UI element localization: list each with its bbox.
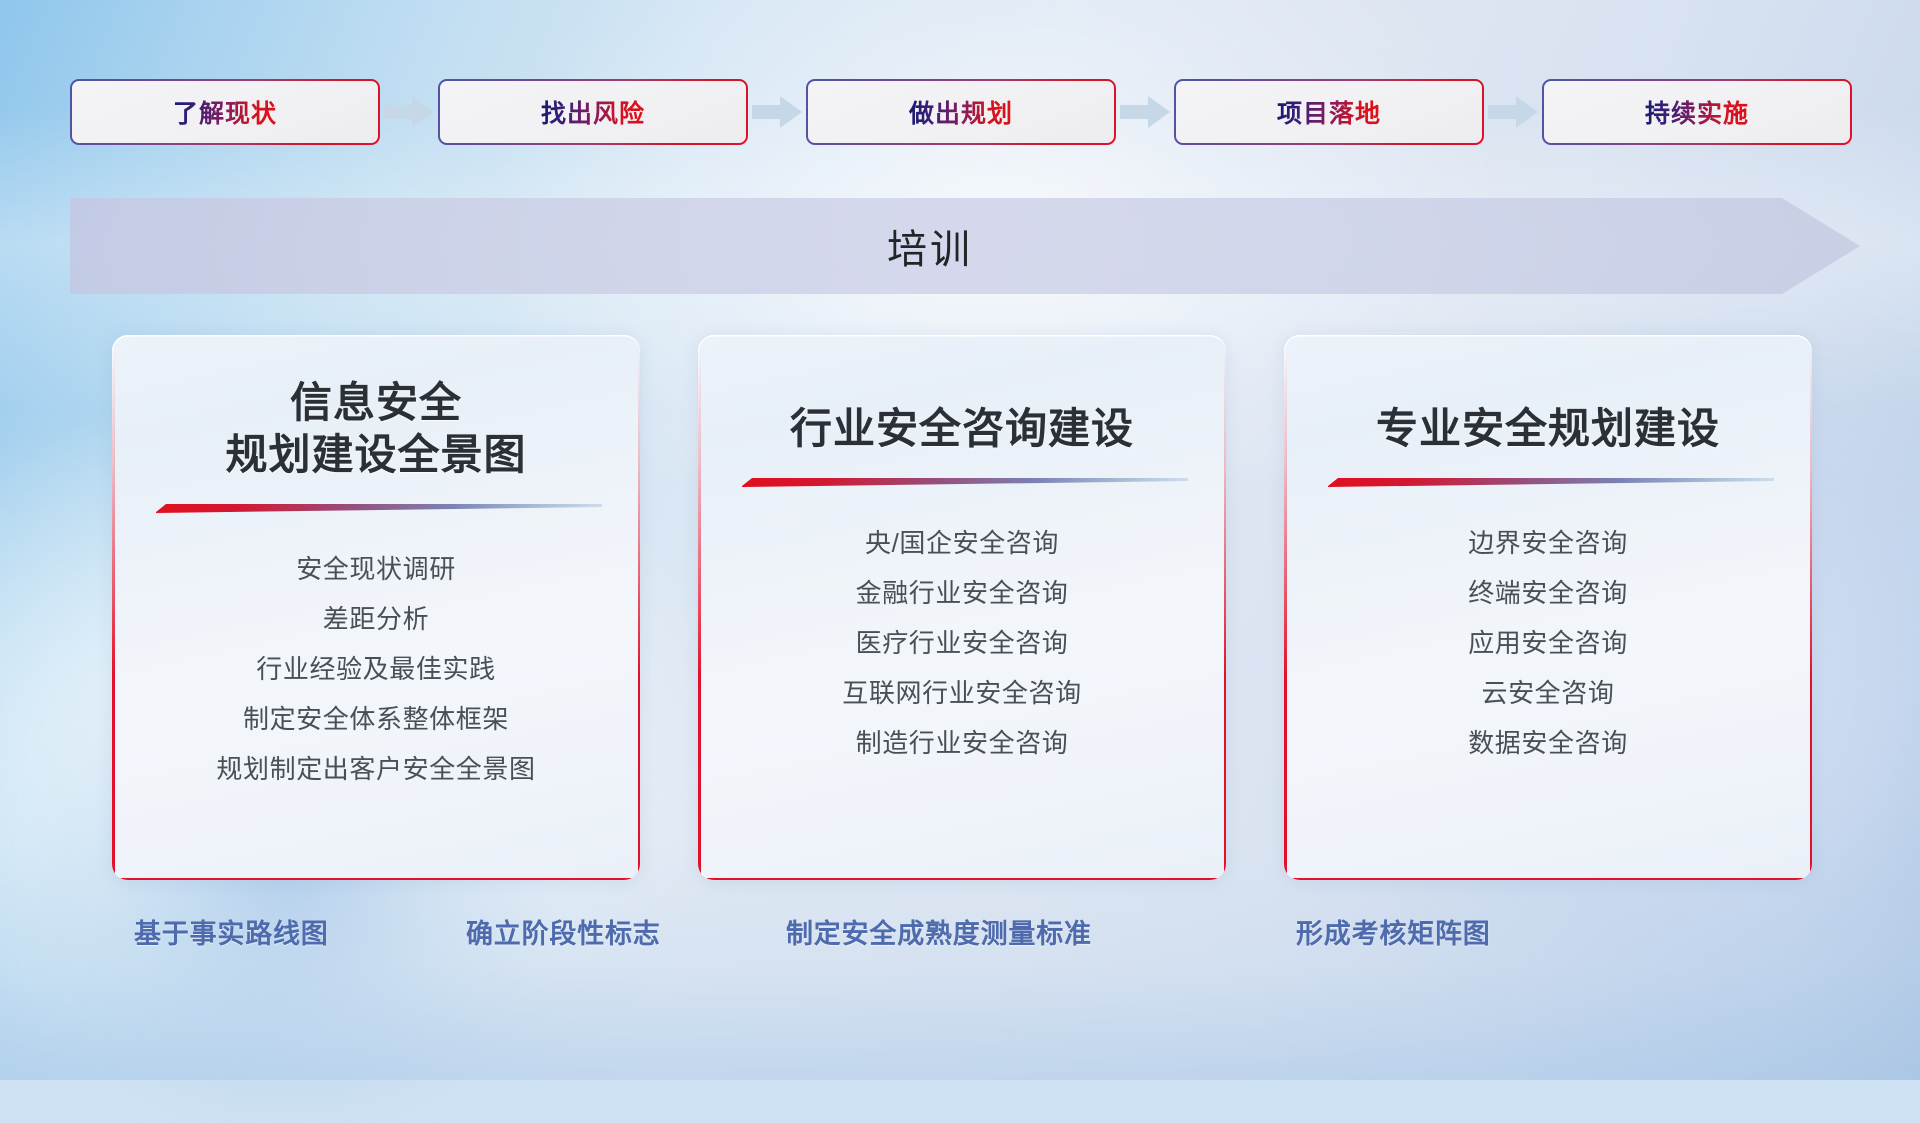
list-item: 互联网行业安全咨询 [842,668,1081,718]
step-arrow-icon-2 [748,95,806,129]
step-box-2-inner: 找出风险 [440,81,746,143]
list-item: 行业经验及最佳实践 [256,644,495,694]
step-box-2[interactable]: 找出风险 [438,79,748,145]
process-step-row: 了解现状 找出风险 做出规划 项目落地 [70,78,1854,146]
service-card-3-list: 边界安全咨询 终端安全咨询 应用安全咨询 云安全咨询 数据安全咨询 [1468,518,1628,768]
list-item: 医疗行业安全咨询 [856,618,1069,668]
service-card-1-list: 安全现状调研 差距分析 行业经验及最佳实践 制定安全体系整体框架 规划制定出客户… [216,544,535,794]
service-card-1[interactable]: 信息安全 规划建设全景图 [112,335,640,880]
bottom-label-2: 确立阶段性标志 [466,912,661,951]
list-item: 差距分析 [323,594,429,644]
step-label-5: 持续实施 [1645,94,1749,130]
list-item: 制造行业安全咨询 [856,718,1069,768]
list-item: 央/国企安全咨询 [865,518,1059,568]
service-card-1-title: 信息安全 规划建设全景图 [225,377,526,481]
step-box-5[interactable]: 持续实施 [1542,79,1852,145]
service-card-3-title: 专业安全规划建设 [1376,377,1720,455]
service-card-2-title: 行业安全咨询建设 [790,377,1134,455]
service-card-2-list: 央/国企安全咨询 金融行业安全咨询 医疗行业安全咨询 互联网行业安全咨询 制造行… [842,518,1081,768]
list-item: 规划制定出客户安全全景图 [216,744,535,794]
service-card-3[interactable]: 专业安全规划建设 [1284,335,1812,880]
step-box-5-inner: 持续实施 [1544,81,1850,143]
step-label-3: 做出规划 [909,94,1013,130]
service-card-1-content: 信息安全 规划建设全景图 [112,335,640,880]
step-box-4-inner: 项目落地 [1176,81,1482,143]
list-item: 数据安全咨询 [1468,718,1628,768]
list-item: 金融行业安全咨询 [856,568,1069,618]
step-box-3-inner: 做出规划 [808,81,1114,143]
service-card-3-content: 专业安全规划建设 [1284,335,1812,880]
service-cards-row: 信息安全 规划建设全景图 [112,335,1812,880]
step-box-4[interactable]: 项目落地 [1174,79,1484,145]
service-card-2-content: 行业安全咨询建设 [698,335,1226,880]
step-arrow-icon-3 [1116,95,1174,129]
step-box-1-inner: 了解现状 [72,81,378,143]
step-arrow-icon-4 [1484,95,1542,129]
service-card-3-divider [1322,475,1774,488]
list-item: 安全现状调研 [296,544,456,594]
step-arrow-icon-1 [380,95,438,129]
list-item: 制定安全体系整体框架 [243,694,509,744]
list-item: 终端安全咨询 [1468,568,1628,618]
training-banner-title: 培训 [70,198,1790,294]
step-box-3[interactable]: 做出规划 [806,79,1116,145]
step-box-1[interactable]: 了解现状 [70,79,380,145]
list-item: 边界安全咨询 [1468,518,1628,568]
service-card-2[interactable]: 行业安全咨询建设 [698,335,1226,880]
bottom-label-3: 制定安全成熟度测量标准 [786,912,1092,951]
step-label-2: 找出风险 [541,94,645,130]
service-card-2-divider [736,475,1188,488]
step-label-4: 项目落地 [1277,94,1381,130]
step-label-1: 了解现状 [173,94,277,130]
list-item: 云安全咨询 [1481,668,1614,718]
service-card-1-divider [150,501,602,514]
bottom-label-1: 基于事实路线图 [134,912,329,951]
training-banner: 培训 [70,198,1860,294]
bottom-label-4: 形成考核矩阵图 [1296,912,1491,951]
bottom-label-row: 基于事实路线图 确立阶段性标志 制定安全成熟度测量标准 形成考核矩阵图 [0,912,1920,962]
list-item: 应用安全咨询 [1468,618,1628,668]
